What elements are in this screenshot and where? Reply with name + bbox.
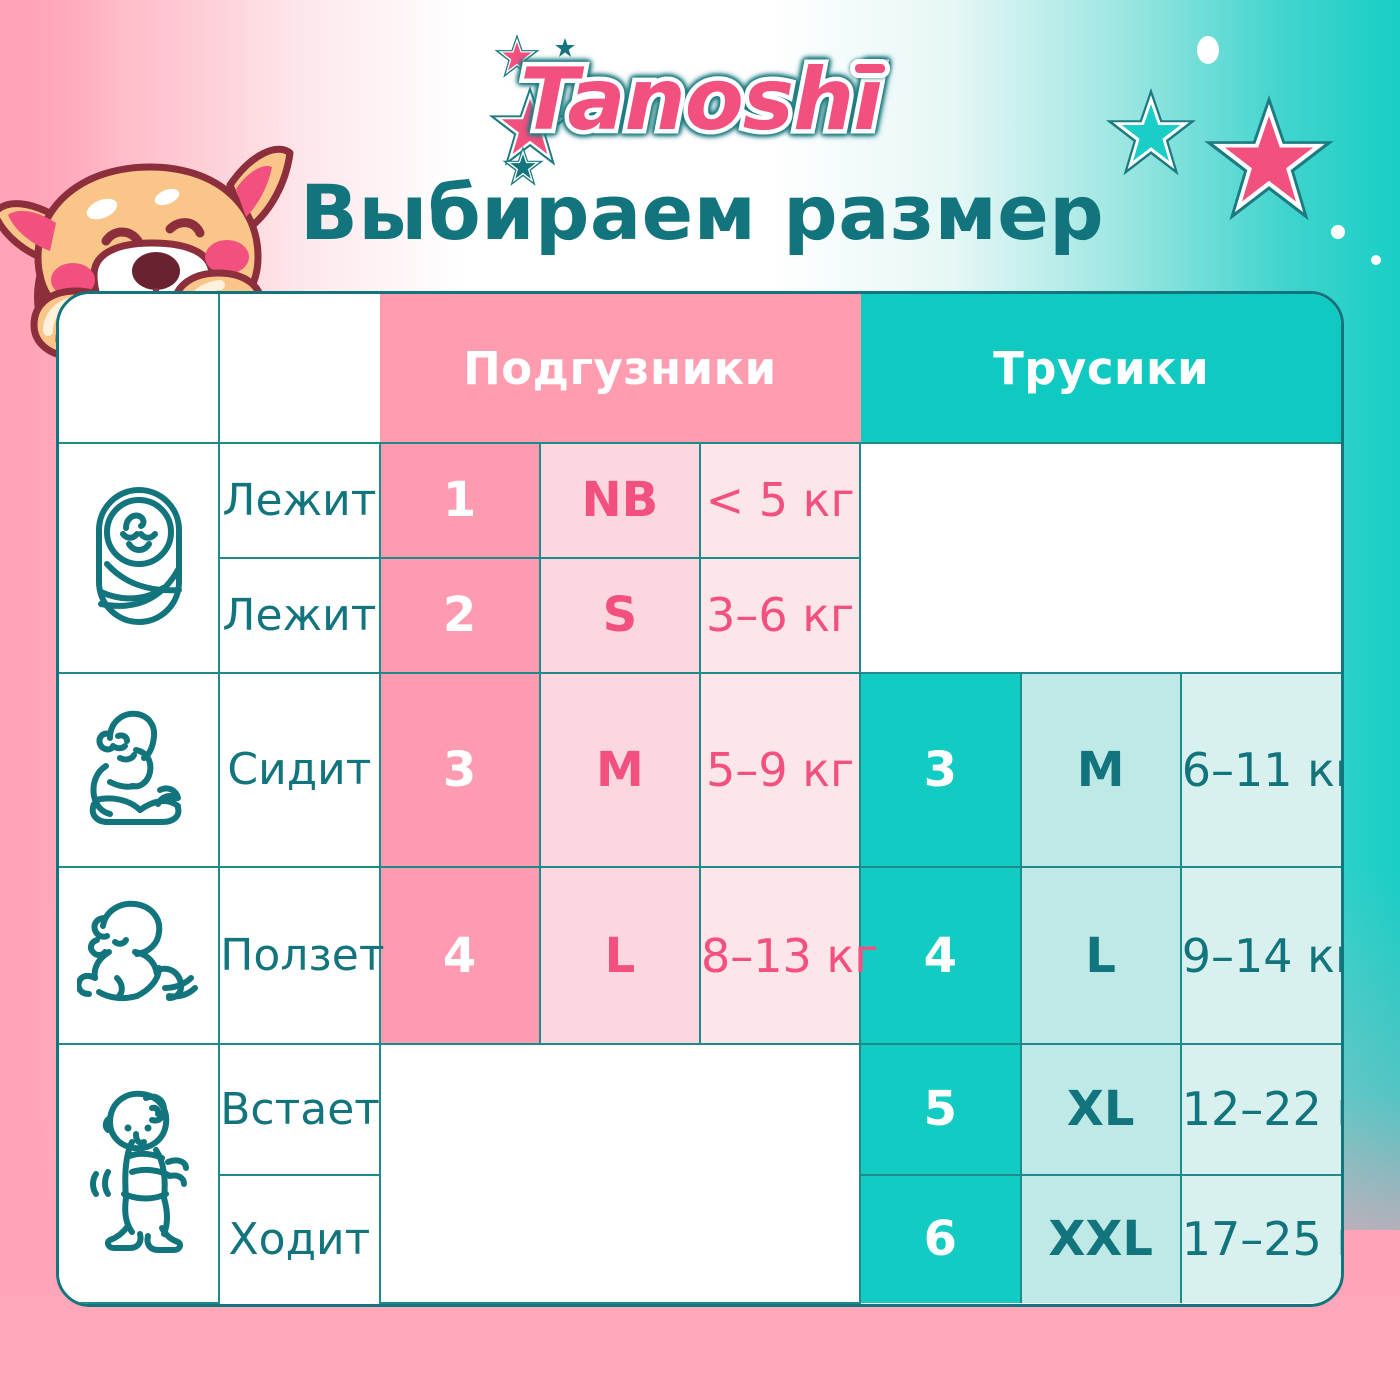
diaper-weight-range: < 5 кг [700,443,860,558]
pants-size-number: 5 [860,1044,1020,1175]
header-diapers: Подгузники [380,294,861,443]
pants-size-letter: XL [1021,1044,1181,1175]
decorative-dot [1331,225,1345,239]
page-title: Выбираем размер [300,168,1104,257]
pants-size-number: 4 [860,867,1020,1044]
diaper-size-letter: L [540,867,700,1044]
diaper-size-letter: NB [540,443,700,558]
pants-size-letter: XXL [1021,1175,1181,1303]
crawling-baby-icon-cell [59,867,219,1044]
header-pants: Трусики [860,294,1341,443]
stage-label: Встает [219,1044,379,1175]
swaddled-baby-icon-cell [59,443,219,673]
header-icon-blank [59,294,219,443]
diaper-weight-range: 3–6 кг [700,558,860,673]
pants-size-number: 6 [860,1175,1020,1303]
decorative-dot [1371,255,1381,265]
table-row: Лежит 1 NB < 5 кг [59,443,1341,558]
brand-logo: Tanoshi [470,28,900,168]
diaper-weight-range: 5–9 кг [700,673,860,868]
diaper-size-number: 1 [380,443,540,558]
stage-label: Сидит [219,673,379,868]
sitting-baby-icon-cell [59,673,219,868]
size-chart-table: Подгузники Трусики [59,294,1341,1304]
diaper-empty-cell [380,1044,861,1303]
header-stage-blank [219,294,379,443]
size-chart-card: Подгузники Трусики [56,291,1344,1307]
stage-label: Ходит [219,1175,379,1303]
decorative-dot [1197,36,1219,64]
diaper-size-letter: S [540,558,700,673]
brand-logo-text: Tanoshi [520,50,882,150]
stage-label: Ползет [219,867,379,1044]
diaper-size-letter: M [540,673,700,868]
sitting-baby-icon [80,704,198,830]
crawling-baby-icon [77,896,201,1010]
pants-size-letter: M [1021,673,1181,868]
table-row: Встает 5 XL 12–22 кг [59,1044,1341,1175]
diaper-size-number: 4 [380,867,540,1044]
pants-weight-range: 17–25 кг [1181,1175,1341,1303]
table-row: Сидит 3 M 5–9 кг 3 M 6–11 кг [59,673,1341,868]
pants-empty-cell [860,443,1341,673]
pants-size-letter: L [1021,867,1181,1044]
pants-weight-range: 12–22 кг [1181,1044,1341,1175]
table-header-row: Подгузники Трусики [59,294,1341,443]
pants-size-number: 3 [860,673,1020,868]
logo-macron-bar [855,64,885,73]
pants-weight-range: 9–14 кг [1181,867,1341,1044]
diaper-weight-range: 8–13 кг [700,867,860,1044]
table-row: Ползет 4 L 8–13 кг 4 L 9–14 кг [59,867,1341,1044]
standing-toddler-icon [80,1086,198,1256]
stage-label: Лежит [219,443,379,558]
pants-weight-range: 6–11 кг [1181,673,1341,868]
standing-toddler-icon-cell [59,1044,219,1303]
diaper-size-number: 2 [380,558,540,673]
swaddled-baby-icon [85,480,193,630]
diaper-size-number: 3 [380,673,540,868]
stage-label: Лежит [219,558,379,673]
